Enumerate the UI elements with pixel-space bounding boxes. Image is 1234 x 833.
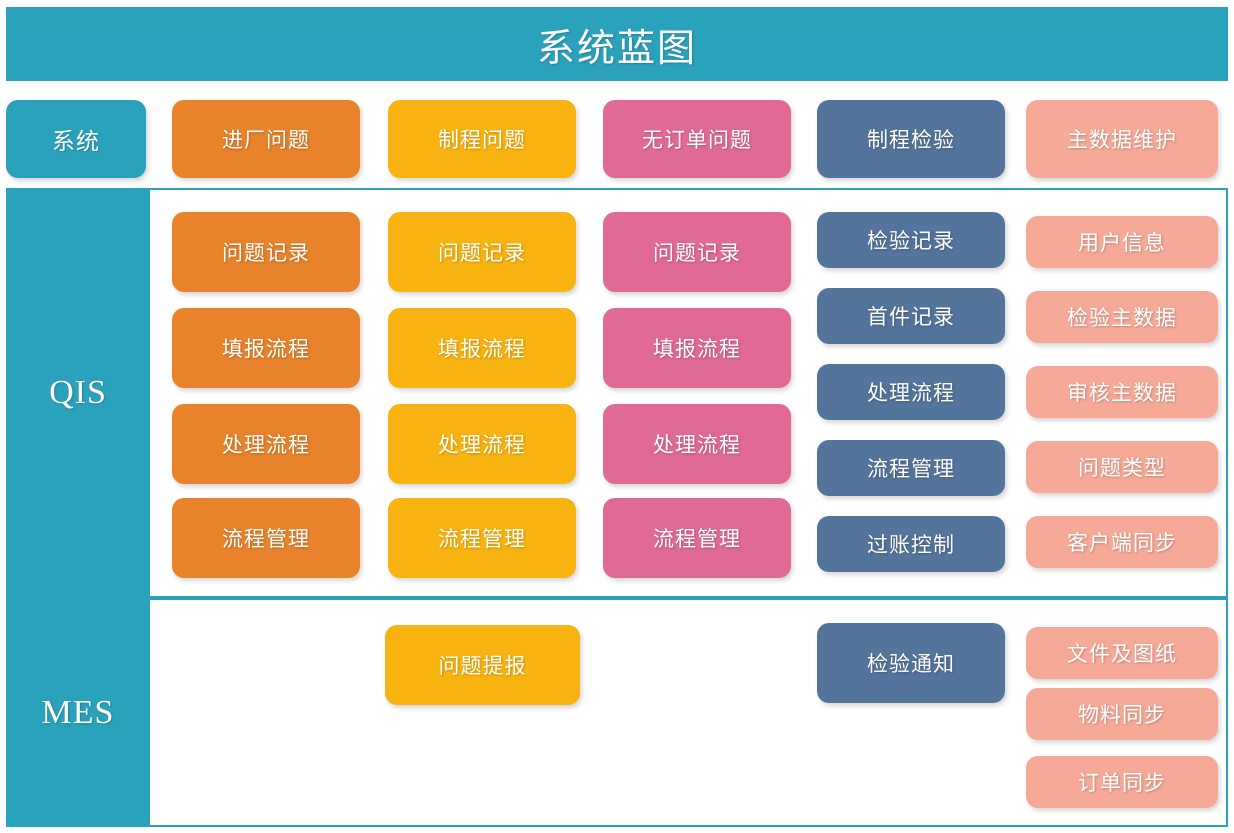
qis-salmon-item-2[interactable]: 检验主数据 xyxy=(1026,291,1218,343)
header-chip-process-issues[interactable]: 制程问题 xyxy=(388,100,576,178)
chip-label: 问题提报 xyxy=(439,650,527,680)
header-chip-label: 进厂问题 xyxy=(222,124,310,154)
header-chip-label: 主数据维护 xyxy=(1067,124,1177,154)
chip-label: 问题记录 xyxy=(222,237,310,267)
row-label-system: 系统 xyxy=(6,100,146,178)
qis-orange-item-4[interactable]: 流程管理 xyxy=(172,498,360,578)
mes-salmon-item-1[interactable]: 文件及图纸 xyxy=(1026,627,1218,679)
qis-blue-item-1[interactable]: 检验记录 xyxy=(817,212,1005,268)
chip-label: 首件记录 xyxy=(867,301,955,331)
qis-blue-item-5[interactable]: 过账控制 xyxy=(817,516,1005,572)
qis-orange-item-2[interactable]: 填报流程 xyxy=(172,308,360,388)
chip-label: 订单同步 xyxy=(1078,767,1166,797)
chip-label: 流程管理 xyxy=(222,523,310,553)
mes-yellow-item-1[interactable]: 问题提报 xyxy=(385,625,580,705)
qis-yellow-item-4[interactable]: 流程管理 xyxy=(388,498,576,578)
header-chip-label: 无订单问题 xyxy=(642,124,752,154)
qis-orange-item-3[interactable]: 处理流程 xyxy=(172,404,360,484)
mes-salmon-item-3[interactable]: 订单同步 xyxy=(1026,756,1218,808)
page-title: 系统蓝图 xyxy=(537,17,697,72)
chip-label: 问题类型 xyxy=(1078,452,1166,482)
chip-label: 过账控制 xyxy=(867,529,955,559)
chip-label: 检验记录 xyxy=(867,225,955,255)
chip-label: 处理流程 xyxy=(867,377,955,407)
qis-pink-item-1[interactable]: 问题记录 xyxy=(603,212,791,292)
chip-label: 用户信息 xyxy=(1078,227,1166,257)
qis-salmon-item-4[interactable]: 问题类型 xyxy=(1026,441,1218,493)
qis-blue-item-2[interactable]: 首件记录 xyxy=(817,288,1005,344)
system-blueprint-diagram: 系统蓝图 系统 进厂问题 制程问题 无订单问题 制程检验 主数据维护 QIS 问… xyxy=(0,0,1234,833)
qis-blue-item-4[interactable]: 流程管理 xyxy=(817,440,1005,496)
row-label-mes-text: MES xyxy=(42,694,115,732)
chip-label: 文件及图纸 xyxy=(1067,638,1177,668)
chip-label: 填报流程 xyxy=(438,333,526,363)
qis-pink-item-4[interactable]: 流程管理 xyxy=(603,498,791,578)
header-chip-label: 制程问题 xyxy=(438,124,526,154)
qis-yellow-item-3[interactable]: 处理流程 xyxy=(388,404,576,484)
qis-yellow-item-1[interactable]: 问题记录 xyxy=(388,212,576,292)
qis-pink-item-2[interactable]: 填报流程 xyxy=(603,308,791,388)
chip-label: 审核主数据 xyxy=(1067,377,1177,407)
qis-salmon-item-3[interactable]: 审核主数据 xyxy=(1026,366,1218,418)
qis-row-divider xyxy=(148,190,150,596)
mes-blue-item-1[interactable]: 检验通知 xyxy=(817,623,1005,703)
qis-salmon-item-5[interactable]: 客户端同步 xyxy=(1026,516,1218,568)
row-label-qis-text: QIS xyxy=(49,374,107,412)
qis-orange-item-1[interactable]: 问题记录 xyxy=(172,212,360,292)
chip-label: 流程管理 xyxy=(438,523,526,553)
chip-label: 填报流程 xyxy=(653,333,741,363)
qis-salmon-item-1[interactable]: 用户信息 xyxy=(1026,216,1218,268)
chip-label: 检验主数据 xyxy=(1067,302,1177,332)
qis-yellow-item-2[interactable]: 填报流程 xyxy=(388,308,576,388)
chip-label: 流程管理 xyxy=(653,523,741,553)
chip-label: 流程管理 xyxy=(867,453,955,483)
diagram-title-banner: 系统蓝图 xyxy=(6,7,1228,81)
header-chip-process-inspection[interactable]: 制程检验 xyxy=(817,100,1005,178)
chip-label: 处理流程 xyxy=(438,429,526,459)
qis-pink-item-3[interactable]: 处理流程 xyxy=(603,404,791,484)
chip-label: 客户端同步 xyxy=(1067,527,1177,557)
chip-label: 问题记录 xyxy=(438,237,526,267)
chip-label: 检验通知 xyxy=(867,648,955,678)
chip-label: 物料同步 xyxy=(1078,699,1166,729)
header-chip-master-data-maintenance[interactable]: 主数据维护 xyxy=(1026,100,1218,178)
header-chip-no-order-issues[interactable]: 无订单问题 xyxy=(603,100,791,178)
qis-blue-item-3[interactable]: 处理流程 xyxy=(817,364,1005,420)
chip-label: 处理流程 xyxy=(222,429,310,459)
header-chip-incoming-issues[interactable]: 进厂问题 xyxy=(172,100,360,178)
chip-label: 处理流程 xyxy=(653,429,741,459)
row-label-qis: QIS xyxy=(8,190,148,596)
chip-label: 填报流程 xyxy=(222,333,310,363)
mes-salmon-item-2[interactable]: 物料同步 xyxy=(1026,688,1218,740)
row-label-mes: MES xyxy=(8,600,148,825)
header-chip-label: 制程检验 xyxy=(867,124,955,154)
chip-label: 问题记录 xyxy=(653,237,741,267)
row-label-system-text: 系统 xyxy=(52,122,100,156)
mes-row-divider xyxy=(148,600,150,825)
